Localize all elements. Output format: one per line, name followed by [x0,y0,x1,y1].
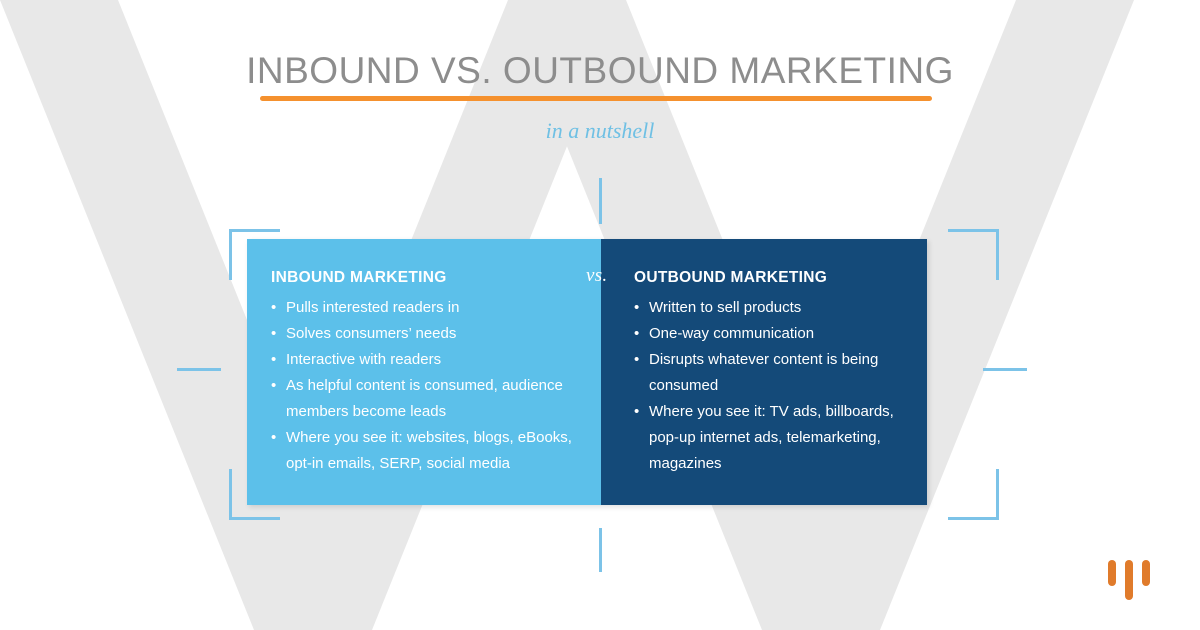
list-item: Interactive with readers [271,347,577,373]
versus-label: vs. [586,265,607,287]
logo-bar-left [1108,560,1116,586]
panel-outbound-bullet-list: Written to sell products One-way communi… [634,295,903,477]
panel-outbound: OUTBOUND MARKETING Written to sell produ… [601,239,927,505]
connector-tick-left [177,368,221,371]
three-bar-logo [1108,556,1160,600]
panel-inbound: INBOUND MARKETING Pulls interested reade… [247,239,601,505]
connector-line-bottom [599,528,602,572]
list-item: Disrupts whatever content is being consu… [634,347,903,399]
panel-inbound-bullet-list: Pulls interested readers in Solves consu… [271,295,577,477]
list-item: As helpful content is consumed, audience… [271,373,577,425]
slide-canvas: INBOUND VS. OUTBOUND MARKETING in a nuts… [0,0,1200,630]
list-item: Pulls interested readers in [271,295,577,321]
list-item: Where you see it: websites, blogs, eBook… [271,425,577,477]
connector-line-top [599,178,602,224]
page-subtitle: in a nutshell [0,118,1200,144]
corner-bracket-top-right [948,229,999,280]
list-item: Where you see it: TV ads, billboards, po… [634,399,903,477]
logo-bar-right [1142,560,1150,586]
corner-bracket-bottom-right [948,469,999,520]
list-item: One-way communication [634,321,903,347]
panel-outbound-title: OUTBOUND MARKETING [634,269,903,287]
page-title: INBOUND VS. OUTBOUND MARKETING [0,50,1200,92]
logo-bar-center [1125,560,1133,600]
title-underline-rule [260,96,932,101]
list-item: Written to sell products [634,295,903,321]
list-item: Solves consumers’ needs [271,321,577,347]
connector-tick-right [983,368,1027,371]
panel-inbound-title: INBOUND MARKETING [271,269,577,287]
